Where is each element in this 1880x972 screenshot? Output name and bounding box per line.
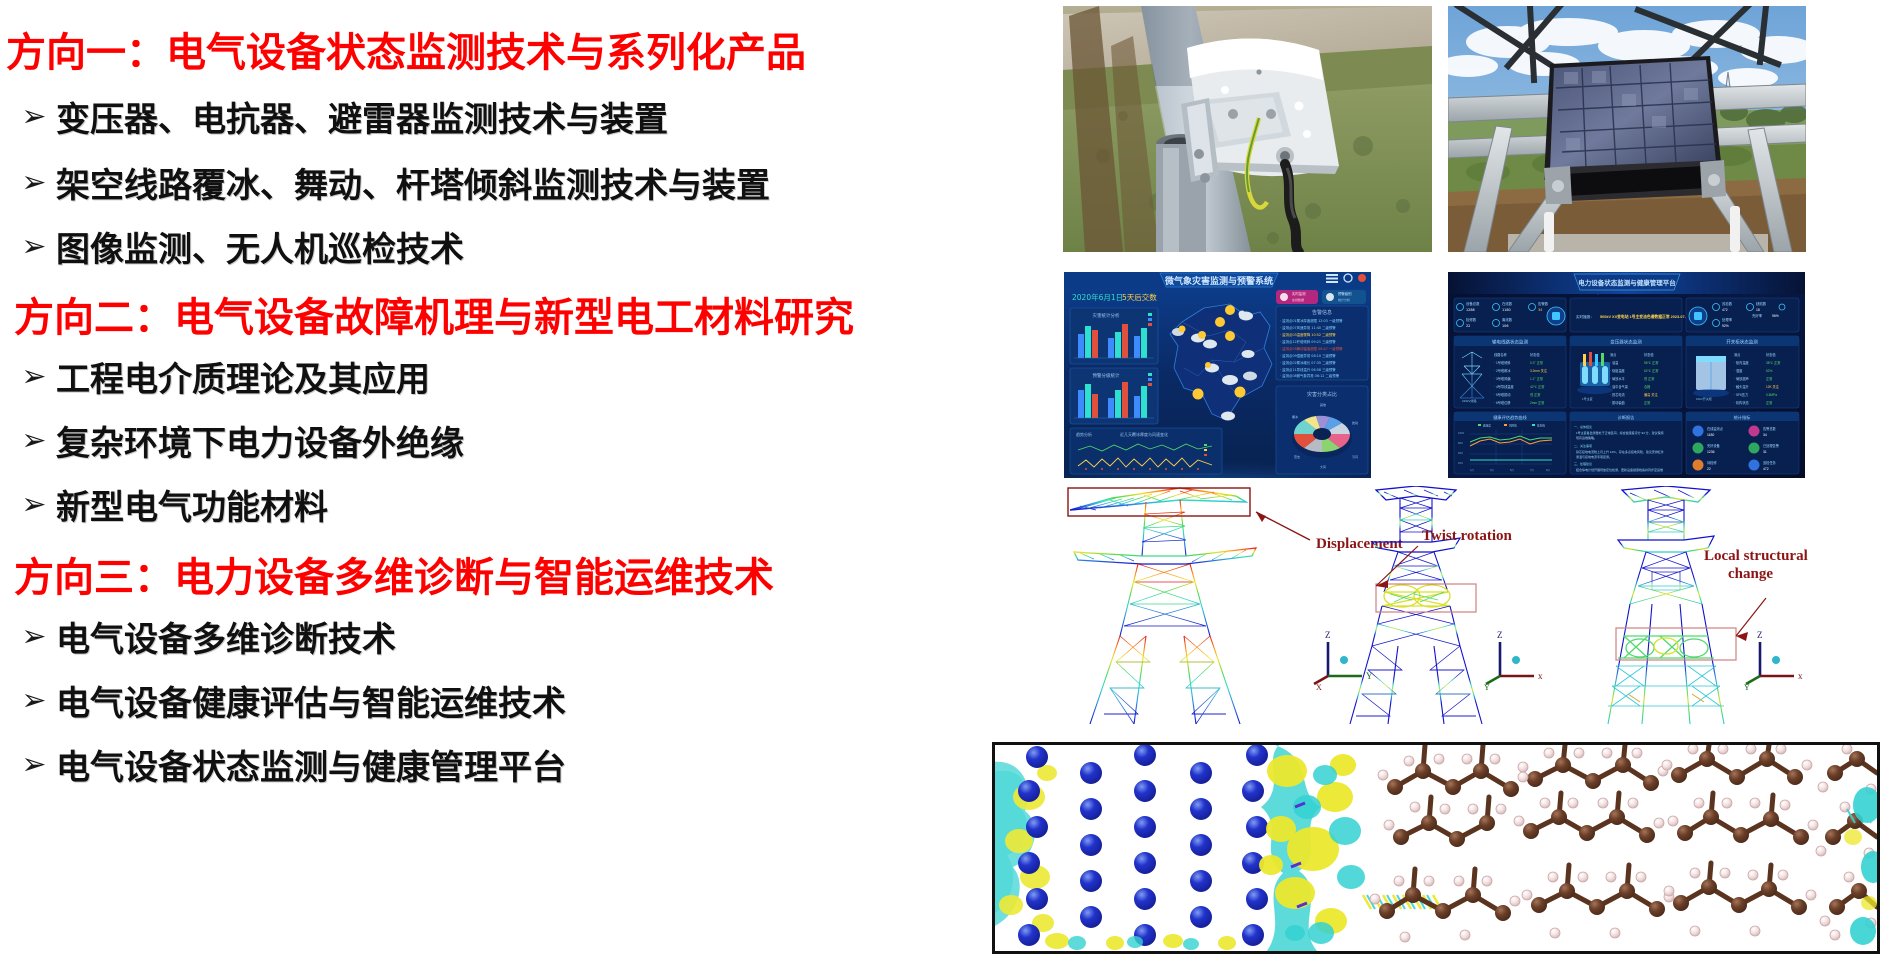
svg-text:x: x <box>1538 671 1543 681</box>
section-heading-2: 方向二：电气设备故障机理与新型电工材料研究 <box>14 285 854 343</box>
svg-text:微气象灾害监测与预警系统: 微气象灾害监测与预警系统 <box>1164 275 1273 287</box>
svg-text:3.2mm 关注: 3.2mm 关注 <box>1530 368 1548 373</box>
svg-text:x: x <box>1798 671 1803 681</box>
svg-text:正常: 正常 <box>1766 400 1772 405</box>
bullet-label: 电气设备状态监测与健康管理平台 <box>56 740 566 789</box>
bullet-item-2-2: ➢ 复杂环境下电力设备外绝缘 <box>12 416 464 465</box>
svg-text:1号主变: 1号主变 <box>1582 396 1593 401</box>
bullet-arrow-icon: ➢ <box>12 490 56 520</box>
tower-fem-simulation-set: Displacement Z Y X <box>1060 486 1820 730</box>
solar-powered-monitoring-device-photo <box>1448 6 1806 252</box>
svg-text:污闪: 污闪 <box>1352 454 1358 459</box>
svg-text:健康评估趋势曲线: 健康评估趋势曲线 <box>1493 414 1527 421</box>
bullet-arrow-icon: ➢ <box>12 232 56 262</box>
svg-text:状态值: 状态值 <box>1530 352 1540 357</box>
svg-text:12K 关注: 12K 关注 <box>1766 384 1780 389</box>
svg-text:472: 472 <box>1763 467 1769 471</box>
svg-text:· 监测点03温度骤降 10:52 二级预警: · 监测点03温度骤降 10:52 二级预警 <box>1280 332 1336 337</box>
svg-text:22: 22 <box>1707 467 1711 471</box>
svg-text:Z: Z <box>1757 630 1763 640</box>
svg-text:灾害分类占比: 灾害分类占比 <box>1307 391 1337 398</box>
svg-text:在线数据: 在线数据 <box>1292 297 1304 302</box>
svg-text:100%: 100% <box>1458 432 1465 435</box>
svg-text:3月: 3月 <box>1490 468 1494 472</box>
svg-text:5月: 5月 <box>1510 468 1514 472</box>
svg-text:检修数: 检修数 <box>1466 317 1477 322</box>
svg-text:告警信息: 告警信息 <box>1312 309 1332 316</box>
svg-text:· 监测点12杆塔倾斜 09:21 三级预警: · 监测点12杆塔倾斜 09:21 三级预警 <box>1280 339 1336 344</box>
axis-triad-2: Z x Y <box>1484 630 1543 692</box>
svg-text:· 2号塔覆冰: · 2号塔覆冰 <box>1494 368 1511 373</box>
svg-text:Y: Y <box>1744 683 1750 692</box>
svg-text:实时监测: 实时监测 <box>1292 291 1306 296</box>
svg-text:实时播报：: 实时播报： <box>1576 314 1594 319</box>
svg-text:42℃ 正常: 42℃ 正常 <box>1530 384 1544 389</box>
svg-text:220kV线路: 220kV线路 <box>1462 398 1477 403</box>
svg-text:· 绕组温度: · 绕组温度 <box>1610 368 1626 373</box>
bullet-arrow-icon: ➢ <box>12 168 56 198</box>
svg-text:告警数: 告警数 <box>1538 301 1549 306</box>
svg-text:62℃ 正常: 62℃ 正常 <box>1644 368 1658 373</box>
svg-text:· 监测点08微气象异常 06:12 二级预警: · 监测点08微气象异常 06:12 二级预警 <box>1280 373 1340 378</box>
svg-text:近几天覆冰厚度与风速变化: 近几天覆冰厚度与风速变化 <box>1120 431 1168 437</box>
bullet-label: 工程电介质理论及其应用 <box>56 352 430 401</box>
svg-text:1180: 1180 <box>1707 433 1714 437</box>
svg-text:其他: 其他 <box>1320 402 1326 407</box>
svg-text:正常: 正常 <box>1766 376 1772 381</box>
svg-text:change: change <box>1728 566 1773 582</box>
svg-text:低 正常: 低 正常 <box>1530 392 1540 397</box>
bullet-label: 图像监测、无人机巡检技术 <box>56 222 464 271</box>
bullet-item-2-1: ➢ 工程电介质理论及其应用 <box>12 352 430 401</box>
slide-root: 方向一：电气设备状态监测技术与系列化产品 ➢ 变压器、电抗器、避雷器监测技术与装… <box>0 0 1880 972</box>
svg-text:1.1° 正常: 1.1° 正常 <box>1530 376 1543 381</box>
svg-text:· 局放水平: · 局放水平 <box>1610 376 1626 381</box>
svg-text:健康度: 健康度 <box>1483 423 1491 427</box>
svg-text:测点: 测点 <box>1734 352 1741 357</box>
svg-text:· 4号导线温度: · 4号导线温度 <box>1494 384 1514 389</box>
svg-text:38℃ 正常: 38℃ 正常 <box>1766 360 1780 365</box>
pole-mounted-white-sensor-photo <box>1063 6 1432 252</box>
svg-text:34: 34 <box>1538 308 1542 312</box>
svg-text:· 3号塔风偏: · 3号塔风偏 <box>1494 376 1510 381</box>
svg-text:34: 34 <box>1763 433 1767 437</box>
svg-text:1号主变各监测量处于正常区间，综合健康度评分 93 分，建议: 1号主变各监测量处于正常区间，综合健康度评分 93 分，建议保持 <box>1576 430 1664 435</box>
bullet-arrow-icon: ➢ <box>12 102 56 132</box>
bullet-arrow-icon: ➢ <box>12 426 56 456</box>
svg-text:7月: 7月 <box>1530 468 1534 472</box>
svg-text:覆冰: 覆冰 <box>1292 414 1298 419</box>
svg-text:· 监测点07风速异常 11:40 二级预警: · 监测点07风速异常 11:40 二级预警 <box>1280 325 1336 330</box>
svg-text:在线监测点: 在线监测点 <box>1707 426 1724 431</box>
svg-text:· 监测点01覆冰厚度超限 12:03 一级预警: · 监测点01覆冰厚度超限 12:03 一级预警 <box>1280 318 1343 323</box>
bullet-item-1-2: ➢ 架空线路覆冰、舞动、杆塔倾斜监测技术与装置 <box>12 158 770 207</box>
svg-text:· 监测点09湿度异常 08:10 三级预警: · 监测点09湿度异常 08:10 三级预警 <box>1280 353 1336 358</box>
svg-text:风险值: 风险值 <box>1509 423 1517 427</box>
svg-text:1236: 1236 <box>1707 450 1715 454</box>
bullet-arrow-icon: ➢ <box>12 362 56 392</box>
svg-text:统计指标: 统计指标 <box>1734 414 1751 421</box>
svg-text:9月: 9月 <box>1546 468 1550 472</box>
svg-text:处理率: 处理率 <box>1722 317 1733 322</box>
svg-text:Y: Y <box>1484 683 1490 692</box>
svg-text:0.5MPa: 0.5MPa <box>1766 393 1777 397</box>
svg-text:2mm 正常: 2mm 正常 <box>1530 400 1544 405</box>
svg-text:雷击: 雷击 <box>1294 454 1300 459</box>
svg-text:· 监测点05舞动幅值超限 08:47 一级预警: · 监测点05舞动幅值超限 08:47 一级预警 <box>1280 346 1343 351</box>
svg-text:· 油温: · 油温 <box>1610 360 1619 365</box>
svg-text:2020年6月1日: 2020年6月1日 <box>1072 292 1123 302</box>
axis-triad-3: Z x Y <box>1744 630 1803 692</box>
svg-text:缺陷数: 缺陷数 <box>1756 301 1767 306</box>
svg-text:· 振动幅值: · 振动幅值 <box>1610 400 1626 405</box>
bullet-item-2-3: ➢ 新型电气功能材料 <box>12 480 328 529</box>
bullet-label: 电气设备健康评估与智能运维技术 <box>56 676 566 725</box>
micro-meteorological-disaster-dashboard[interactable]: 微气象灾害监测与预警系统 2020年6月1日 5天后交数 灾害统计分析 <box>1064 272 1371 478</box>
svg-text:正常: 正常 <box>1644 400 1650 405</box>
svg-text:· 铁芯电流: · 铁芯电流 <box>1610 392 1626 397</box>
svg-text:告警总数: 告警总数 <box>1763 426 1777 431</box>
svg-text:巡检数: 巡检数 <box>1722 301 1733 306</box>
bullet-arrow-icon: ➢ <box>12 750 56 780</box>
svg-text:在线数: 在线数 <box>1502 301 1513 306</box>
axis-triad-1: Z Y X <box>1314 630 1373 692</box>
svg-text:已处理告警: 已处理告警 <box>1763 443 1780 448</box>
svg-text:设备总数: 设备总数 <box>1466 301 1480 306</box>
svg-text:合格: 合格 <box>1644 384 1651 389</box>
svg-text:预警级别: 预警级别 <box>1338 291 1352 296</box>
svg-text:96%: 96% <box>1772 314 1779 318</box>
bullet-arrow-icon: ➢ <box>12 622 56 652</box>
svg-text:10kV开关柜: 10kV开关柜 <box>1696 396 1712 401</box>
bullet-item-3-3: ➢ 电气设备状态监测与健康管理平台 <box>12 740 566 789</box>
svg-text:测温与接地电流专项复测。: 测温与接地电流专项复测。 <box>1576 454 1612 459</box>
svg-text:完好设备: 完好设备 <box>1707 443 1721 448</box>
svg-text:巡检任务: 巡检任务 <box>1763 460 1777 465</box>
svg-text:106: 106 <box>1502 324 1508 328</box>
svg-text:输电线路状态监测: 输电线路状态监测 <box>1492 339 1528 346</box>
content-text-column: 方向一：电气设备状态监测技术与系列化产品 ➢ 变压器、电抗器、避雷器监测技术与装… <box>0 0 1000 972</box>
svg-text:基准线: 基准线 <box>1537 423 1545 427</box>
svg-text:现有运维策略。: 现有运维策略。 <box>1576 435 1597 440</box>
section-heading-3: 方向三：电力设备多维诊断与智能运维技术 <box>14 545 774 603</box>
sim-label-twist-rotation: Twist rotation <box>1422 528 1513 544</box>
sim-label-local-structural-change: Local structural <box>1704 548 1808 564</box>
svg-text:二、关注事项: 二、关注事项 <box>1574 443 1592 448</box>
svg-text:56℃ 正常: 56℃ 正常 <box>1644 360 1658 365</box>
svg-text:大风: 大风 <box>1320 464 1326 469</box>
svg-text:线路名称: 线路名称 <box>1494 352 1508 357</box>
svg-text:· 湿度: · 湿度 <box>1734 368 1743 373</box>
svg-text:· 监测点02覆冰增长 07:35 二级预警: · 监测点02覆冰增长 07:35 二级预警 <box>1280 360 1336 365</box>
svg-text:舞动: 舞动 <box>1352 420 1358 425</box>
svg-text:1286: 1286 <box>1466 308 1475 312</box>
svg-text:结合停电计划开展局放定位检测，更新设备健康档案并同步至运维: 结合停电计划开展局放定位检测，更新设备健康档案并同步至运维 <box>1576 467 1663 472</box>
svg-text:52%: 52% <box>1766 369 1773 373</box>
svg-text:22: 22 <box>1466 324 1470 328</box>
svg-text:· 监测点11导线温升 06:58 三级预警: · 监测点11导线温升 06:58 三级预警 <box>1280 367 1336 372</box>
svg-text:预警分级统计: 预警分级统计 <box>1093 372 1120 379</box>
svg-text:Z: Z <box>1497 630 1503 640</box>
svg-text:0.3° 正常: 0.3° 正常 <box>1530 360 1543 365</box>
svg-text:· 局放超声: · 局放超声 <box>1734 376 1749 381</box>
svg-text:待检修: 待检修 <box>1707 460 1717 465</box>
bullet-arrow-icon: ➢ <box>12 686 56 716</box>
svg-text:472: 472 <box>1722 308 1728 312</box>
bullet-label: 新型电气功能材料 <box>56 480 328 529</box>
equipment-status-monitoring-dashboard[interactable]: 电力设备状态监测与健康管理平台 设备总数1286 在线数1180 告警数34 检… <box>1448 272 1805 478</box>
svg-text:离线数: 离线数 <box>1502 317 1513 322</box>
svg-text:· 6号塔位移: · 6号塔位移 <box>1494 400 1511 405</box>
svg-text:18: 18 <box>1756 308 1760 312</box>
svg-text:灾害统计分析: 灾害统计分析 <box>1093 312 1120 319</box>
bullet-label: 复杂环境下电力设备外绝缘 <box>56 416 464 465</box>
svg-text:· 5号塔振动: · 5号塔振动 <box>1494 392 1510 397</box>
svg-text:92%: 92% <box>1722 324 1729 328</box>
svg-text:三、处理建议: 三、处理建议 <box>1574 461 1592 466</box>
bullet-item-3-1: ➢ 电气设备多维诊断技术 <box>12 612 396 661</box>
svg-text:· 触头温升: · 触头温升 <box>1734 384 1750 389</box>
svg-text:· 机构状态: · 机构状态 <box>1734 400 1750 405</box>
section-heading-1: 方向一：电气设备状态监测技术与系列化产品 <box>6 20 806 78</box>
charge-density-difference-model <box>992 742 1880 954</box>
svg-text:Y: Y <box>1366 671 1373 681</box>
bullet-label: 变压器、电抗器、避雷器监测技术与装置 <box>56 92 668 141</box>
svg-text:X: X <box>1316 683 1322 692</box>
svg-text:低 正常: 低 正常 <box>1644 376 1654 381</box>
svg-text:1180: 1180 <box>1502 308 1511 312</box>
svg-text:5天后交数: 5天后交数 <box>1122 292 1157 302</box>
svg-text:偏高 关注: 偏高 关注 <box>1644 392 1658 397</box>
svg-text:· 1号塔倾斜: · 1号塔倾斜 <box>1494 360 1511 365</box>
svg-text:1月: 1月 <box>1470 468 1474 472</box>
svg-text:· 油中含气量: · 油中含气量 <box>1610 384 1629 389</box>
svg-text:测点: 测点 <box>1610 352 1617 357</box>
svg-text:31: 31 <box>1763 450 1767 454</box>
svg-text:完好率: 完好率 <box>1752 313 1763 318</box>
svg-text:状态值: 状态值 <box>1644 352 1654 357</box>
svg-text:开关柜状态监测: 开关柜状态监测 <box>1726 339 1758 346</box>
svg-text:诊断报告: 诊断报告 <box>1618 414 1635 421</box>
svg-text:· SF6压力: · SF6压力 <box>1734 392 1748 397</box>
bullet-item-1-3: ➢ 图像监测、无人机巡检技术 <box>12 222 464 271</box>
svg-text:铁芯接地电流较上月上升 12%，存在多点接地风险，建议安排红: 铁芯接地电流较上月上升 12%，存在多点接地风险，建议安排红外 <box>1576 449 1664 454</box>
svg-text:趋势分析: 趋势分析 <box>1076 431 1092 437</box>
svg-text:Z: Z <box>1325 630 1331 640</box>
svg-text:一、总体结论: 一、总体结论 <box>1574 424 1592 429</box>
svg-text:· 柜内温度: · 柜内温度 <box>1734 360 1750 365</box>
svg-text:变压器状态监测: 变压器状态监测 <box>1610 339 1642 346</box>
svg-text:统计分析: 统计分析 <box>1338 297 1350 302</box>
bullet-label: 架空线路覆冰、舞动、杆塔倾斜监测技术与装置 <box>56 158 770 207</box>
svg-text:电力设备状态监测与健康管理平台: 电力设备状态监测与健康管理平台 <box>1578 278 1676 287</box>
bullet-item-1-1: ➢ 变压器、电抗器、避雷器监测技术与装置 <box>12 92 668 141</box>
bullet-label: 电气设备多维诊断技术 <box>56 612 396 661</box>
svg-text:状态值: 状态值 <box>1766 352 1776 357</box>
bullet-item-3-2: ➢ 电气设备健康评估与智能运维技术 <box>12 676 566 725</box>
